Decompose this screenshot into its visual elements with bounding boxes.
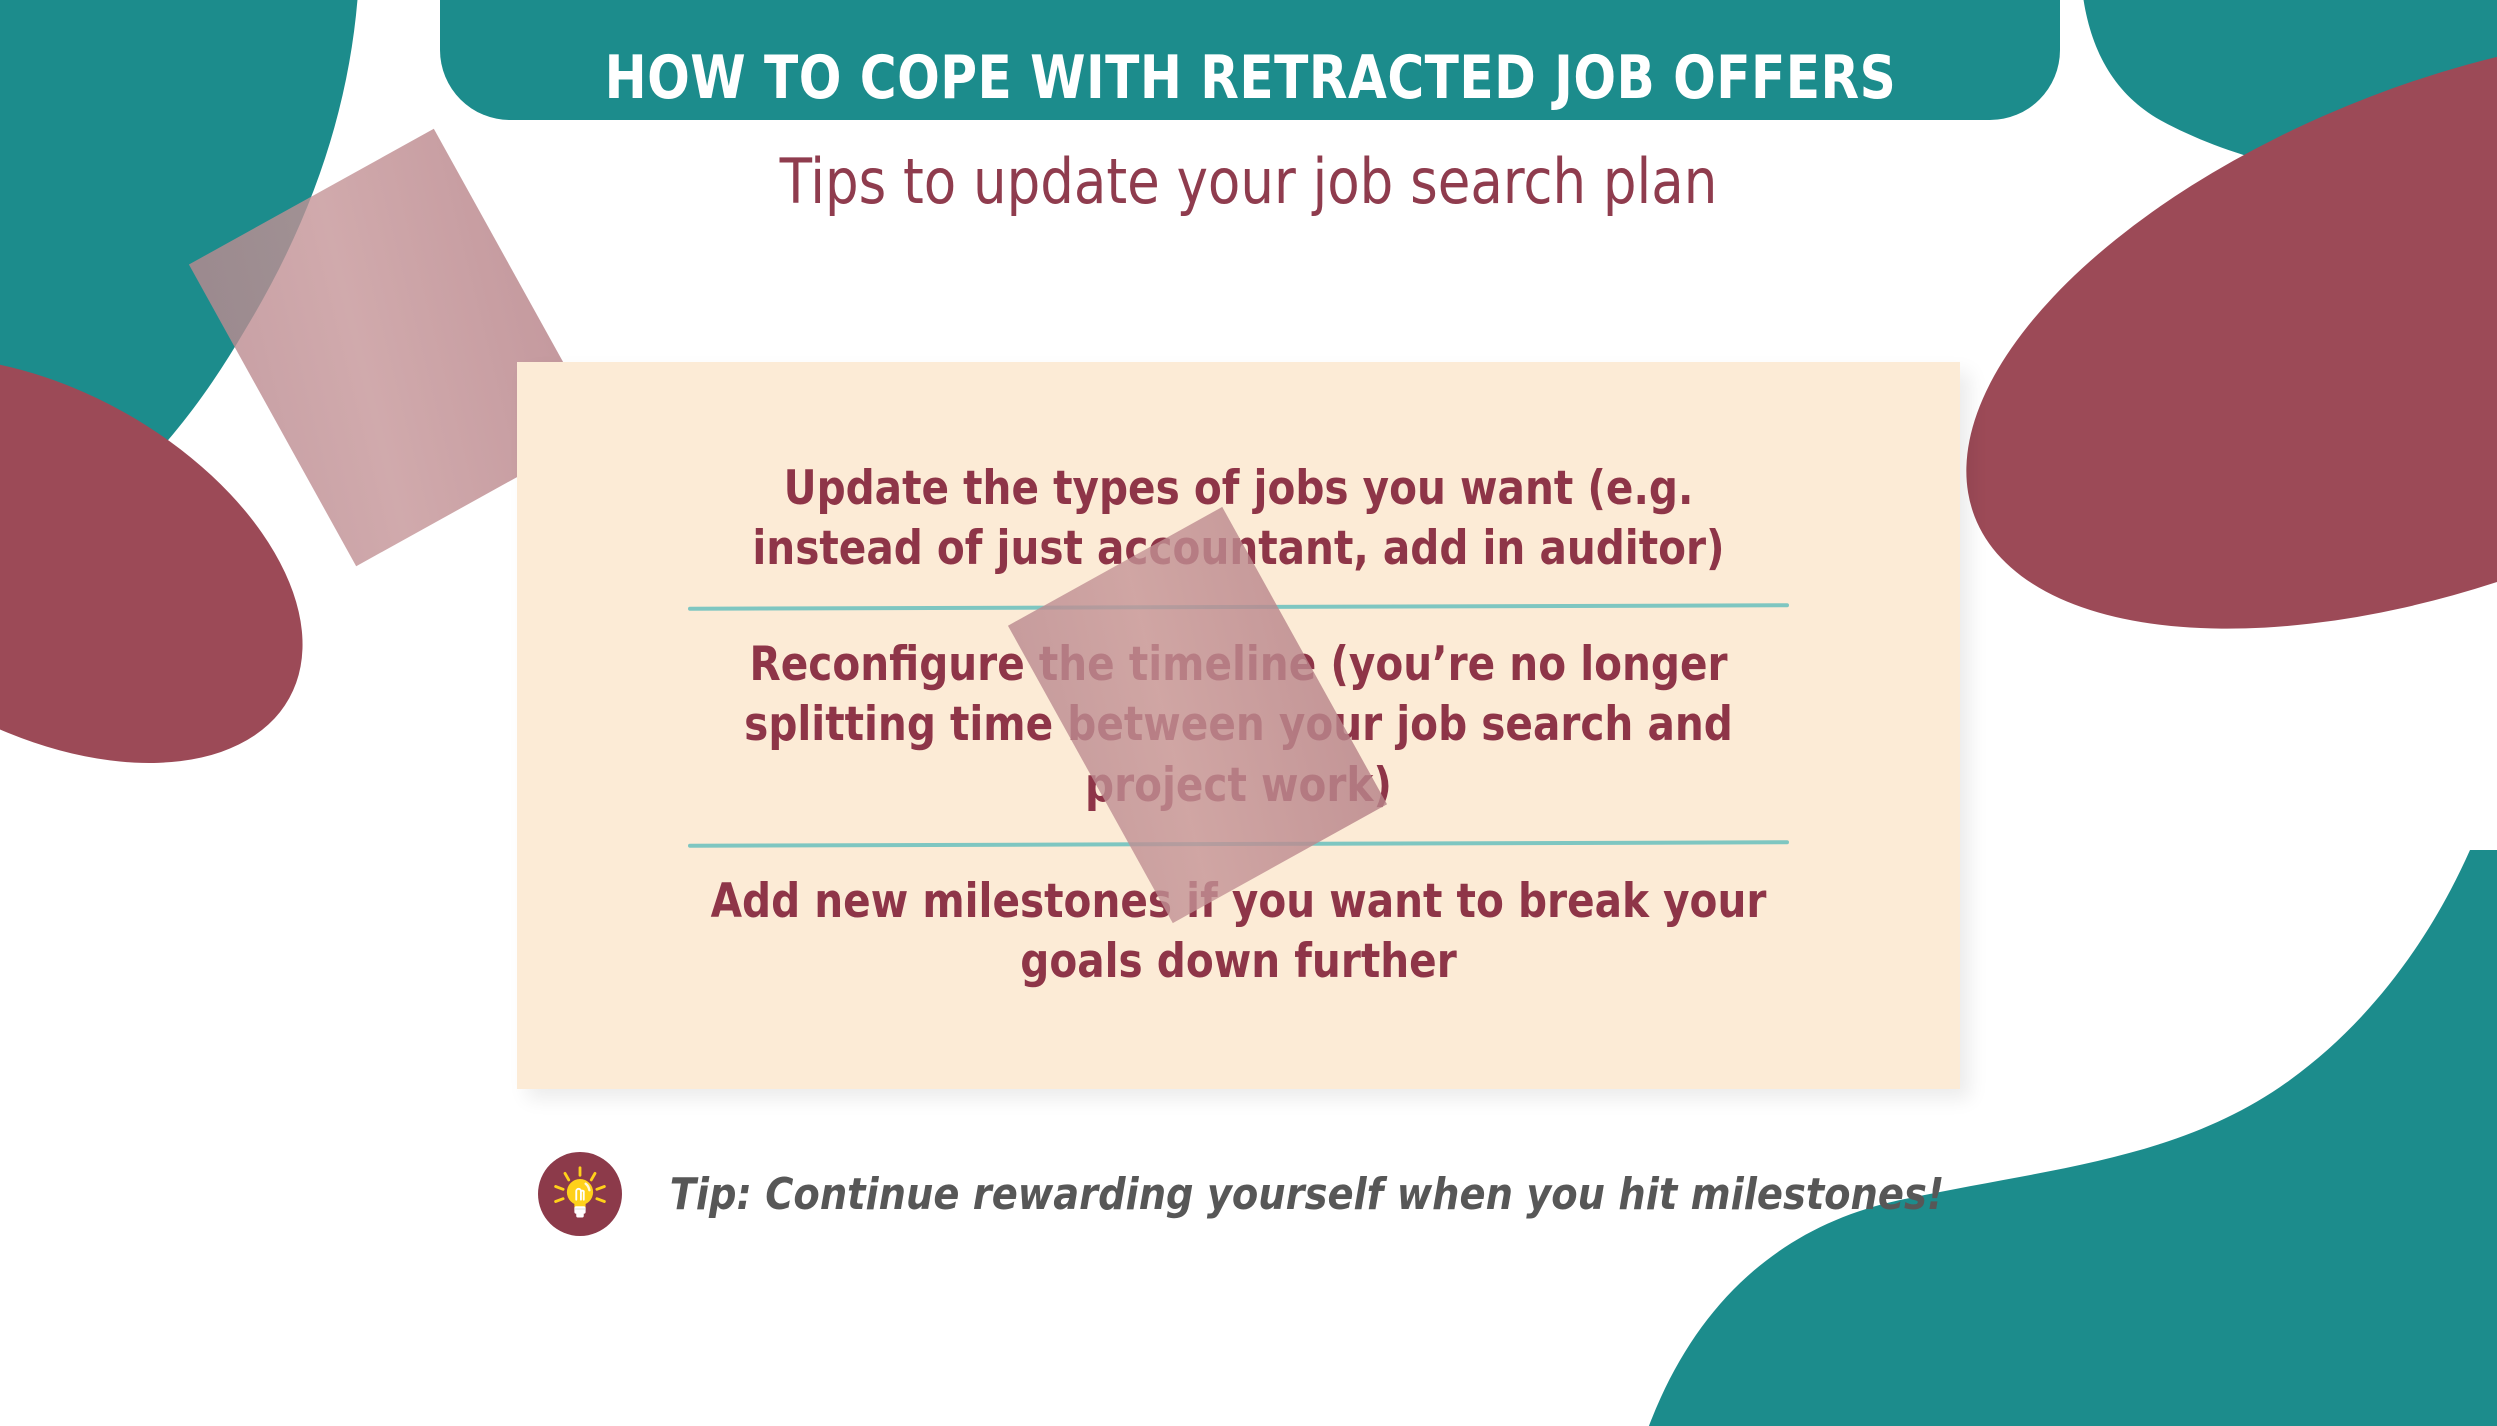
lightbulb-icon — [538, 1152, 622, 1236]
tip-item-3: Add new milestones if you want to break … — [699, 872, 1777, 992]
header-banner: HOW TO COPE WITH RETRACTED JOB OFFERS — [440, 0, 2060, 120]
tip-row: Tip: Continue rewarding yourself when yo… — [538, 1152, 1964, 1236]
tip-text: Tip: Continue rewarding yourself when yo… — [670, 1169, 1945, 1220]
page-subtitle: Tips to update your job search plan — [62, 148, 2434, 216]
page-title: HOW TO COPE WITH RETRACTED JOB OFFERS — [604, 48, 1896, 108]
